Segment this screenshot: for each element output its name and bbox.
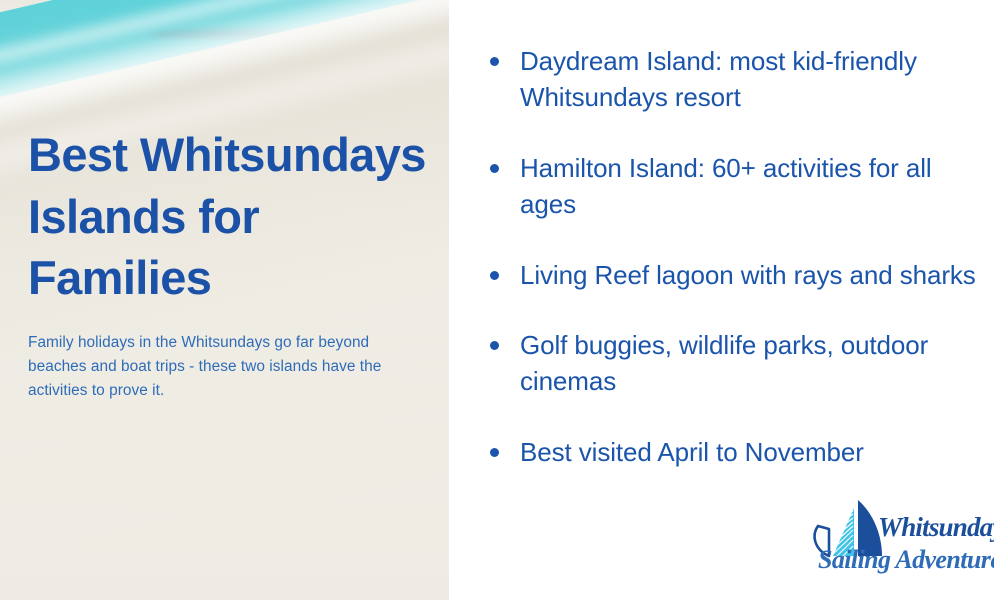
list-item-label: Daydream Island: most kid-friendly Whits… — [520, 44, 986, 116]
list-item: Daydream Island: most kid-friendly Whits… — [486, 44, 986, 116]
key-points-list: Daydream Island: most kid-friendly Whits… — [486, 44, 986, 471]
list-item-label: Best visited April to November — [520, 435, 986, 471]
list-item-label: Living Reef lagoon with rays and sharks — [520, 258, 986, 294]
logo-wordmark-line2: Sailing Adventures — [818, 545, 994, 574]
left-copy-block: Best Whitsundays Islands for Families Fa… — [28, 124, 428, 403]
list-item: Golf buggies, wildlife parks, outdoor ci… — [486, 328, 986, 400]
list-item: Hamilton Island: 60+ activities for all … — [486, 151, 986, 223]
bullet-dot-icon — [490, 271, 499, 280]
list-item: Living Reef lagoon with rays and sharks — [486, 258, 986, 294]
logo-wordmark-line1: Whitsundays — [878, 512, 994, 542]
bullet-dot-icon — [490, 341, 499, 350]
bullet-dot-icon — [490, 448, 499, 457]
list-item: Best visited April to November — [486, 435, 986, 471]
brand-logo[interactable]: Whitsundays Sailing Adventures — [806, 488, 994, 580]
list-item-label: Hamilton Island: 60+ activities for all … — [520, 151, 986, 223]
page-title: Best Whitsundays Islands for Families — [28, 124, 428, 309]
bullet-dot-icon — [490, 57, 499, 66]
bullet-dot-icon — [490, 164, 499, 173]
list-item-label: Golf buggies, wildlife parks, outdoor ci… — [520, 328, 986, 400]
slide-canvas: Best Whitsundays Islands for Families Fa… — [0, 0, 1000, 600]
subtitle-paragraph: Family holidays in the Whitsundays go fa… — [28, 331, 420, 403]
